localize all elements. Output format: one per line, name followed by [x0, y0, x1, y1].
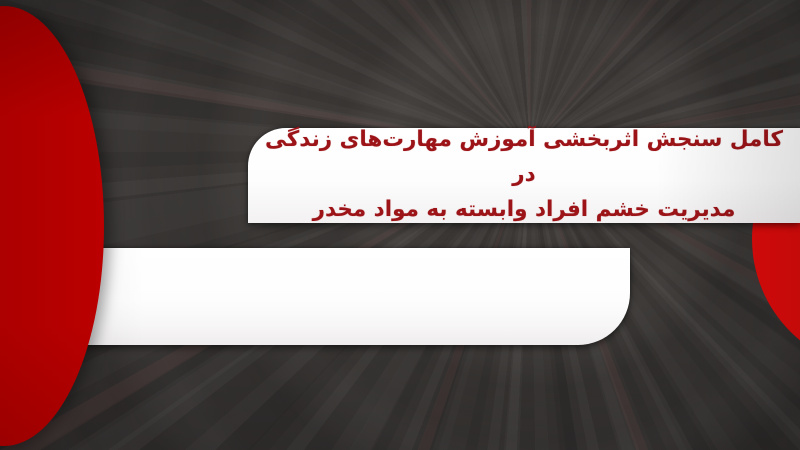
presentation-slide: کامل سنجش اثربخشی آموزش مهارت‌های زندگی …	[0, 0, 800, 450]
slide-title: کامل سنجش اثربخشی آموزش مهارت‌های زندگی …	[248, 123, 800, 227]
title-banner: کامل سنجش اثربخشی آموزش مهارت‌های زندگی …	[248, 128, 800, 223]
content-banner	[60, 248, 630, 345]
